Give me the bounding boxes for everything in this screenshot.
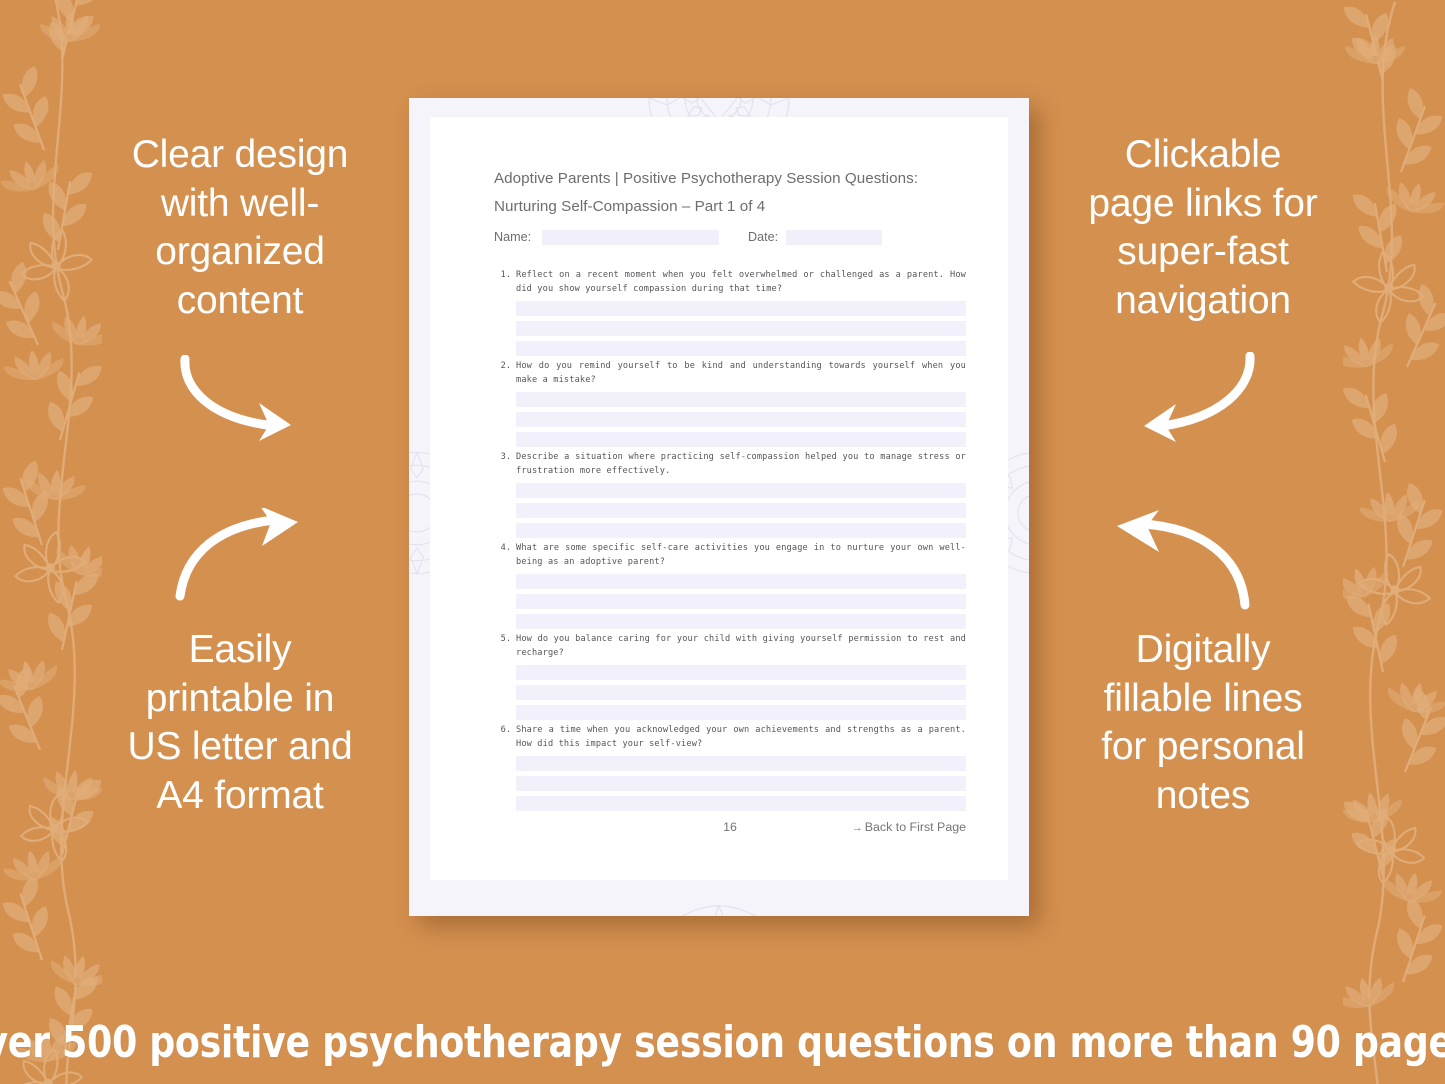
answer-line-input[interactable] xyxy=(516,341,966,356)
back-to-first-page-link[interactable]: →Back to First Page xyxy=(852,817,966,838)
question-number: 3. xyxy=(494,451,516,465)
answer-lines-group xyxy=(516,574,966,629)
worksheet-title-line-1: Adoptive Parents | Positive Psychotherap… xyxy=(494,170,918,187)
question-block: 5.How do you balance caring for your chi… xyxy=(494,633,966,725)
name-input[interactable] xyxy=(542,230,719,245)
floral-border-left-icon xyxy=(0,0,102,1084)
bottom-banner-text: Over 500 positive psychotherapy session … xyxy=(0,1017,1445,1068)
question-text: How do you balance caring for your child… xyxy=(516,633,966,660)
curved-arrow-down-right-icon xyxy=(175,355,335,445)
answer-lines-group xyxy=(516,301,966,356)
answer-line-input[interactable] xyxy=(516,594,966,609)
question-text: What are some specific self-care activit… xyxy=(516,542,966,569)
answer-line-input[interactable] xyxy=(516,776,966,791)
mandala-watermark-bottom-icon xyxy=(631,888,807,916)
arrow-right-icon: → xyxy=(852,822,863,834)
question-row: 1.Reflect on a recent moment when you fe… xyxy=(494,269,966,296)
answer-lines-group xyxy=(516,756,966,811)
question-block: 2.How do you remind yourself to be kind … xyxy=(494,360,966,452)
answer-line-input[interactable] xyxy=(516,705,966,720)
answer-line-input[interactable] xyxy=(516,412,966,427)
worksheet-page-frame: Adoptive Parents | Positive Psychotherap… xyxy=(409,98,1029,916)
bottom-banner: Over 500 positive psychotherapy session … xyxy=(0,1000,1445,1084)
question-row: 2.How do you remind yourself to be kind … xyxy=(494,360,966,387)
answer-line-input[interactable] xyxy=(516,503,966,518)
answer-lines-group xyxy=(516,665,966,720)
answer-line-input[interactable] xyxy=(516,574,966,589)
curved-arrow-up-left-icon xyxy=(1085,510,1260,610)
name-label: Name: xyxy=(494,229,531,246)
answer-line-input[interactable] xyxy=(516,321,966,336)
question-block: 6.Share a time when you acknowledged you… xyxy=(494,724,966,816)
answer-line-input[interactable] xyxy=(516,614,966,629)
annotation-column-right: Clickable page links for super-fast navi… xyxy=(1053,0,1353,1000)
question-row: 5.How do you balance caring for your chi… xyxy=(494,633,966,660)
worksheet-title: Adoptive Parents | Positive Psychotherap… xyxy=(494,165,964,221)
question-text: Describe a situation where practicing se… xyxy=(516,451,966,478)
annotation-clickable-links: Clickable page links for super-fast navi… xyxy=(1053,131,1353,325)
answer-line-input[interactable] xyxy=(516,523,966,538)
date-input[interactable] xyxy=(786,230,882,245)
question-row: 4.What are some specific self-care activ… xyxy=(494,542,966,569)
question-number: 2. xyxy=(494,360,516,374)
question-number: 5. xyxy=(494,633,516,647)
back-to-first-page-label: Back to First Page xyxy=(865,820,966,834)
question-number: 1. xyxy=(494,269,516,283)
curved-arrow-up-right-icon xyxy=(170,508,335,603)
question-block: 4.What are some specific self-care activ… xyxy=(494,542,966,634)
answer-line-input[interactable] xyxy=(516,756,966,771)
answer-line-input[interactable] xyxy=(516,483,966,498)
name-date-row: Name: Date: xyxy=(494,229,964,246)
floral-border-right-icon xyxy=(1343,0,1445,1084)
question-text: Share a time when you acknowledged your … xyxy=(516,724,966,751)
annotation-easily-printable: Easily printable in US letter and A4 for… xyxy=(90,626,390,820)
page-footer: 16 →Back to First Page xyxy=(494,817,966,837)
question-block: 1.Reflect on a recent moment when you fe… xyxy=(494,269,966,361)
answer-line-input[interactable] xyxy=(516,432,966,447)
answer-line-input[interactable] xyxy=(516,665,966,680)
answer-line-input[interactable] xyxy=(516,301,966,316)
answer-line-input[interactable] xyxy=(516,392,966,407)
question-row: 3.Describe a situation where practicing … xyxy=(494,451,966,478)
answer-line-input[interactable] xyxy=(516,685,966,700)
annotation-clear-design: Clear design with well- organized conten… xyxy=(90,131,390,325)
date-label: Date: xyxy=(748,229,778,246)
answer-line-input[interactable] xyxy=(516,796,966,811)
question-block: 3.Describe a situation where practicing … xyxy=(494,451,966,543)
annotation-fillable-lines: Digitally fillable lines for personal no… xyxy=(1053,626,1353,820)
question-row: 6.Share a time when you acknowledged you… xyxy=(494,724,966,751)
answer-lines-group xyxy=(516,392,966,447)
curved-arrow-down-left-icon xyxy=(1100,352,1260,447)
question-number: 6. xyxy=(494,724,516,738)
annotation-column-left: Clear design with well- organized conten… xyxy=(90,0,390,1000)
question-number: 4. xyxy=(494,542,516,556)
question-text: How do you remind yourself to be kind an… xyxy=(516,360,966,387)
worksheet-page: Adoptive Parents | Positive Psychotherap… xyxy=(430,117,1008,880)
worksheet-title-line-2: Nurturing Self-Compassion – Part 1 of 4 xyxy=(494,193,964,221)
answer-lines-group xyxy=(516,483,966,538)
question-text: Reflect on a recent moment when you felt… xyxy=(516,269,966,296)
